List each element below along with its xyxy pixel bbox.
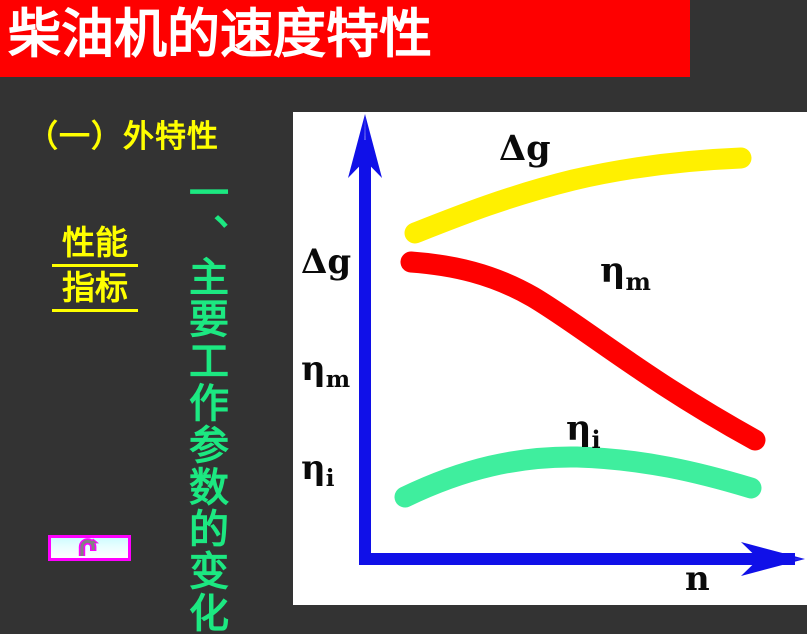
- performance-index-line-2: 指标: [52, 267, 138, 312]
- return-button[interactable]: [48, 535, 131, 561]
- y-axis-tick-label-dg: Δg: [301, 242, 351, 282]
- curve-delta-g: [415, 158, 741, 233]
- x-axis: [359, 542, 805, 576]
- u-turn-arrow-icon: [77, 538, 103, 558]
- y-axis-tick-label-eta-m: ηm: [301, 349, 350, 393]
- characteristics-chart: Δg ηm ηi n Δg ηm ηi: [293, 112, 807, 605]
- x-axis-label-n: n: [685, 559, 710, 599]
- performance-index-label[interactable]: 性能 指标: [52, 222, 138, 312]
- chart-panel: Δg ηm ηi n Δg ηm ηi: [293, 112, 807, 605]
- section-subheading: （一）外特性: [27, 111, 219, 156]
- performance-index-line-1: 性能: [52, 222, 138, 267]
- vertical-heading-note: 一、主要工作参数的变化: [180, 172, 228, 634]
- slide-canvas: 柴油机的速度特性 （一）外特性 性能 指标 一、主要工作参数的变化: [0, 0, 807, 605]
- page-title: 柴油机的速度特性: [8, 0, 432, 72]
- curve-label-delta-g: Δg: [499, 128, 551, 169]
- y-axis: [348, 114, 382, 565]
- curve-eta-i: [405, 457, 751, 497]
- curve-label-eta-i: ηi: [566, 408, 601, 454]
- title-banner: 柴油机的速度特性: [0, 0, 690, 77]
- y-axis-tick-label-eta-i: ηi: [301, 448, 335, 492]
- curve-label-eta-m: ηm: [600, 250, 651, 296]
